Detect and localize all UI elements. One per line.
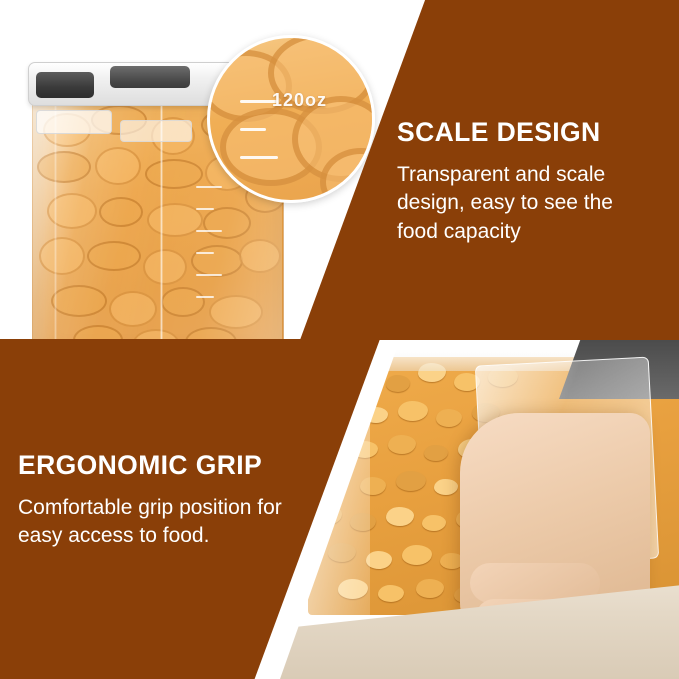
container-seam-left [54, 98, 57, 340]
lid-tab-secondary [120, 120, 192, 142]
magnifier-capacity-label: 120oz [272, 90, 327, 111]
ergonomic-grip-text-block: ERGONOMIC GRIP Comfortable grip position… [18, 451, 318, 551]
scale-design-text-block: SCALE DESIGN Transparent and scale desig… [397, 118, 659, 246]
magnifier-circle: 120oz [207, 35, 375, 203]
scale-design-headline: SCALE DESIGN [397, 118, 659, 147]
ergonomic-grip-headline: ERGONOMIC GRIP [18, 451, 318, 480]
scale-mark [196, 296, 214, 298]
lid-tab [36, 110, 112, 134]
scale-mark [196, 208, 214, 210]
scale-mark [196, 186, 222, 188]
product-feature-image: 120oz [0, 0, 679, 679]
magnified-scale-mark [240, 156, 278, 159]
ergonomic-grip-body: Comfortable grip position for easy acces… [18, 494, 318, 551]
magnified-scale-mark [240, 128, 266, 131]
scale-design-body: Transparent and scale design, easy to se… [397, 161, 659, 246]
lid-latch-dark [36, 72, 94, 98]
scale-mark [196, 274, 222, 276]
scale-mark [196, 230, 222, 232]
scale-mark [196, 252, 214, 254]
lid-clip [110, 66, 190, 88]
